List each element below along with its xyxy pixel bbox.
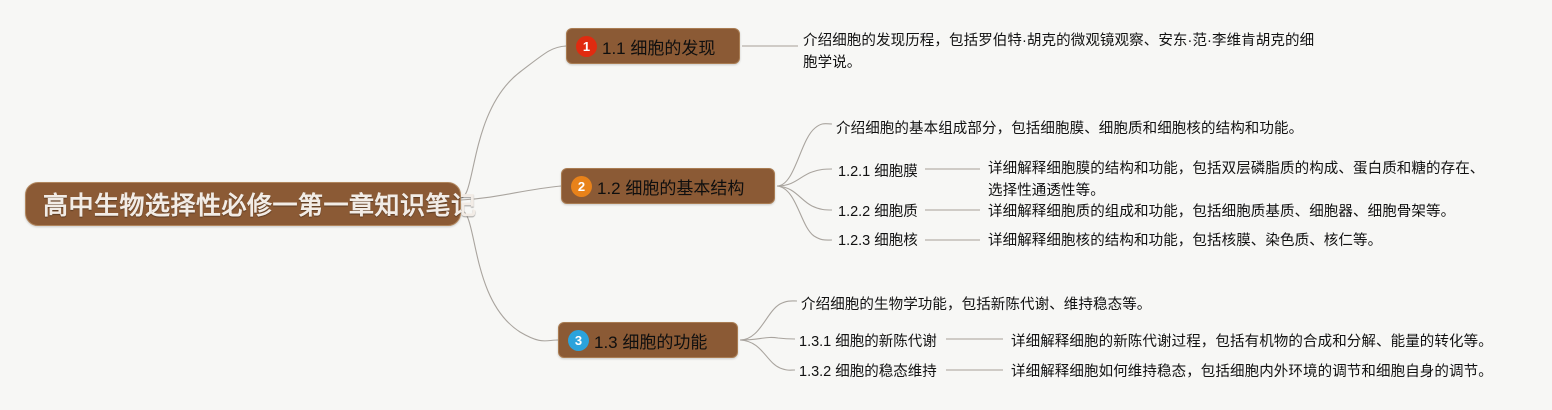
connector-branch-3-to-description (740, 301, 797, 340)
branch-node-1-1[interactable]: 1 1.1 细胞的发现 (566, 28, 740, 64)
branch-label-1-2: 1.2 细胞的基本结构 (597, 174, 744, 199)
description-1-3-1: 详细解释细胞的新陈代谢过程，包括有机物的合成和分解、能量的转化等。 (1011, 331, 1511, 353)
branch-node-1-2[interactable]: 2 1.2 细胞的基本结构 (561, 168, 775, 204)
sub-title-1-3-2[interactable]: 1.3.2 细胞的稳态维持 (799, 361, 937, 383)
description-1-2-2: 详细解释细胞质的组成和功能，包括细胞质基质、细胞器、细胞骨架等。 (988, 201, 1508, 223)
sub-title-1-2-1[interactable]: 1.2.1 细胞膜 (838, 161, 918, 183)
description-1-1: 介绍细胞的发现历程，包括罗伯特·胡克的微观镜观察、安东·范·李维肯胡克的细胞学说… (803, 30, 1323, 74)
description-1-3-2: 详细解释细胞如何维持稳态，包括细胞内外环境的调节和细胞自身的调节。 (1011, 361, 1511, 383)
branch-badge-3: 3 (568, 330, 589, 351)
connector-root-to-branch-3 (461, 210, 558, 341)
sub-title-1-3-1[interactable]: 1.3.1 细胞的新陈代谢 (799, 331, 937, 353)
sub-title-1-2-3[interactable]: 1.2.3 细胞核 (838, 230, 918, 252)
connector-branch-2-to-child-3 (777, 186, 832, 240)
connector-root-to-branch-1 (461, 46, 566, 198)
connector-branch-3-to-child-2 (740, 340, 795, 370)
mindmap-canvas: 高中生物选择性必修一第一章知识笔记 1 1.1 细胞的发现 介绍细胞的发现历程，… (0, 0, 1552, 410)
connector-branch-2-to-child-2 (777, 186, 832, 210)
connector-branch-3-to-child-1 (740, 337, 795, 340)
branch-node-1-3[interactable]: 3 1.3 细胞的功能 (558, 322, 738, 358)
branch-label-1-3: 1.3 细胞的功能 (594, 328, 707, 353)
description-1-2-3: 详细解释细胞核的结构和功能，包括核膜、染色质、核仁等。 (988, 230, 1508, 252)
branch-badge-1: 1 (576, 36, 597, 57)
description-1-2-1: 详细解释细胞膜的结构和功能，包括双层磷脂质的构成、蛋白质和糖的存在、选择性通透性… (988, 158, 1488, 202)
connector-branch-2-to-child-1 (777, 169, 832, 186)
branch-badge-2: 2 (571, 176, 592, 197)
description-1-2: 介绍细胞的基本组成部分，包括细胞膜、细胞质和细胞核的结构和功能。 (836, 118, 1356, 140)
connector-branch-2-to-description (777, 124, 832, 186)
sub-title-1-2-2[interactable]: 1.2.2 细胞质 (838, 201, 918, 223)
description-1-3: 介绍细胞的生物学功能，包括新陈代谢、维持稳态等。 (801, 294, 1321, 316)
branch-label-1-1: 1.1 细胞的发现 (602, 34, 715, 59)
root-node[interactable]: 高中生物选择性必修一第一章知识笔记 (25, 182, 461, 226)
root-node-label: 高中生物选择性必修一第一章知识笔记 (43, 186, 477, 222)
